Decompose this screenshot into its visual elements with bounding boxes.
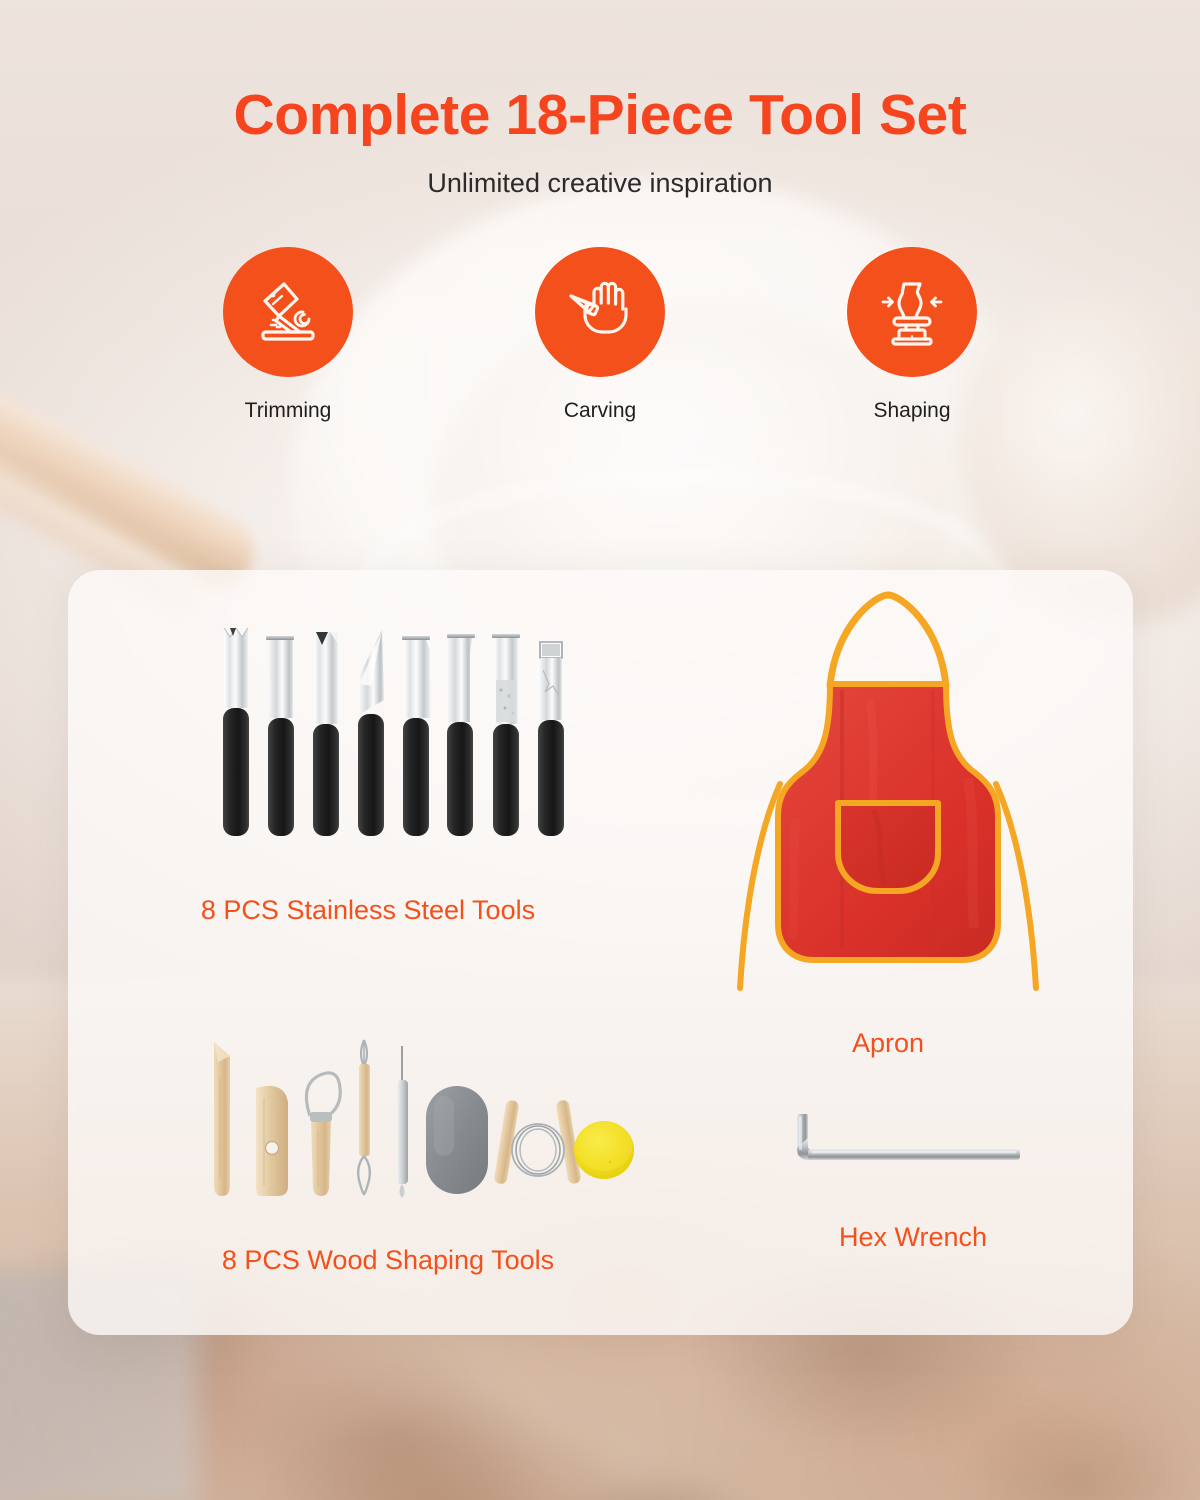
- product-stainless-steel-tools: 8 PCS Stainless Steel Tools: [108, 600, 628, 1000]
- carving-hand-knife-icon: [563, 275, 637, 349]
- wood-shaping-tools-label: 8 PCS Wood Shaping Tools: [108, 1245, 668, 1276]
- product-wood-shaping-tools: 8 PCS Wood Shaping Tools: [108, 1030, 668, 1310]
- shaping-vase-wheel-icon: [875, 275, 949, 349]
- product-apron: Apron: [698, 588, 1098, 1068]
- feature-trimming: Trimming: [203, 247, 373, 423]
- page-subtitle: Unlimited creative inspiration: [0, 168, 1200, 199]
- feature-shaping: Shaping: [827, 247, 997, 423]
- product-hex-wrench: Hex Wrench: [728, 1090, 1098, 1290]
- feature-icon-badge: [223, 247, 353, 377]
- feature-icon-badge: [847, 247, 977, 377]
- stainless-steel-tools-label: 8 PCS Stainless Steel Tools: [108, 895, 628, 926]
- page-title: Complete 18-Piece Tool Set: [0, 86, 1200, 146]
- apron-label: Apron: [718, 1028, 1058, 1059]
- feature-label: Carving: [515, 399, 685, 423]
- feature-label: Shaping: [827, 399, 997, 423]
- product-card: 8 PCS Stainless Steel Tools: [68, 570, 1133, 1335]
- hex-wrench-label: Hex Wrench: [728, 1222, 1098, 1253]
- feature-icon-badge: [535, 247, 665, 377]
- feature-list: Trimming Carving: [0, 247, 1200, 423]
- header: Complete 18-Piece Tool Set Unlimited cre…: [0, 0, 1200, 199]
- feature-label: Trimming: [203, 399, 373, 423]
- feature-carving: Carving: [515, 247, 685, 423]
- trimming-knife-icon: [251, 275, 325, 349]
